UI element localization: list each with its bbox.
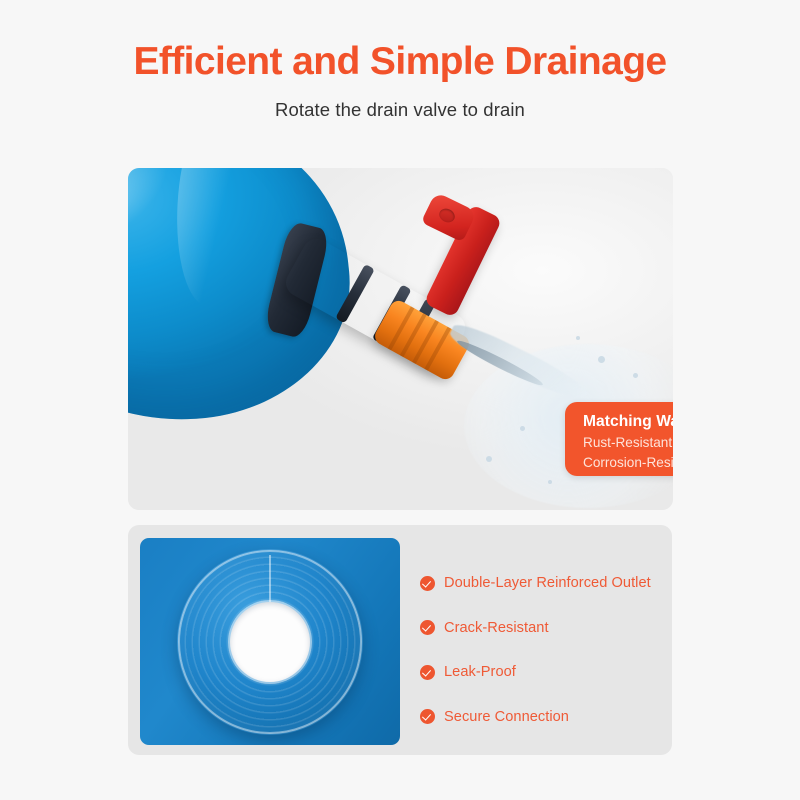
water-droplet bbox=[598, 356, 605, 363]
feature-label: Crack-Resistant bbox=[444, 620, 549, 636]
check-circle-icon bbox=[420, 576, 435, 591]
list-item: Secure Connection bbox=[420, 695, 660, 740]
reinforced-outlet-photo bbox=[140, 538, 400, 745]
valve-ring bbox=[335, 264, 375, 324]
feature-label: Secure Connection bbox=[444, 709, 569, 725]
callout-title: Matching Water Outlet bbox=[583, 413, 673, 432]
water-droplet bbox=[576, 336, 580, 340]
water-droplet bbox=[486, 456, 492, 462]
outlet-ring bbox=[177, 549, 363, 735]
list-item: Leak-Proof bbox=[420, 650, 660, 695]
header: Efficient and Simple Drainage Rotate the… bbox=[0, 0, 800, 121]
check-circle-icon bbox=[420, 709, 435, 724]
list-item: Crack-Resistant bbox=[420, 606, 660, 651]
callout-subtitle-line1: Rust-Resistant and bbox=[583, 432, 673, 452]
feature-list: Double-Layer Reinforced Outlet Crack-Res… bbox=[420, 561, 660, 739]
callout-subtitle-line2: Corrosion-Resistant bbox=[583, 452, 673, 472]
water-droplet bbox=[548, 480, 552, 484]
check-circle-icon bbox=[420, 665, 435, 680]
product-photo-panel: Matching Water Outlet Rust-Resistant and… bbox=[128, 168, 673, 510]
page-subtitle: Rotate the drain valve to drain bbox=[0, 85, 800, 121]
tank-crease bbox=[172, 168, 252, 308]
callout-badge: Matching Water Outlet Rust-Resistant and… bbox=[565, 402, 673, 476]
list-item: Double-Layer Reinforced Outlet bbox=[420, 561, 660, 606]
outlet-ring-hole bbox=[230, 602, 310, 682]
feature-label: Double-Layer Reinforced Outlet bbox=[444, 575, 651, 591]
check-circle-icon bbox=[420, 620, 435, 635]
feature-label: Leak-Proof bbox=[444, 664, 516, 680]
features-panel: Double-Layer Reinforced Outlet Crack-Res… bbox=[128, 525, 672, 755]
water-droplet bbox=[633, 373, 638, 378]
page-title: Efficient and Simple Drainage bbox=[0, 0, 800, 85]
water-droplet bbox=[520, 426, 525, 431]
